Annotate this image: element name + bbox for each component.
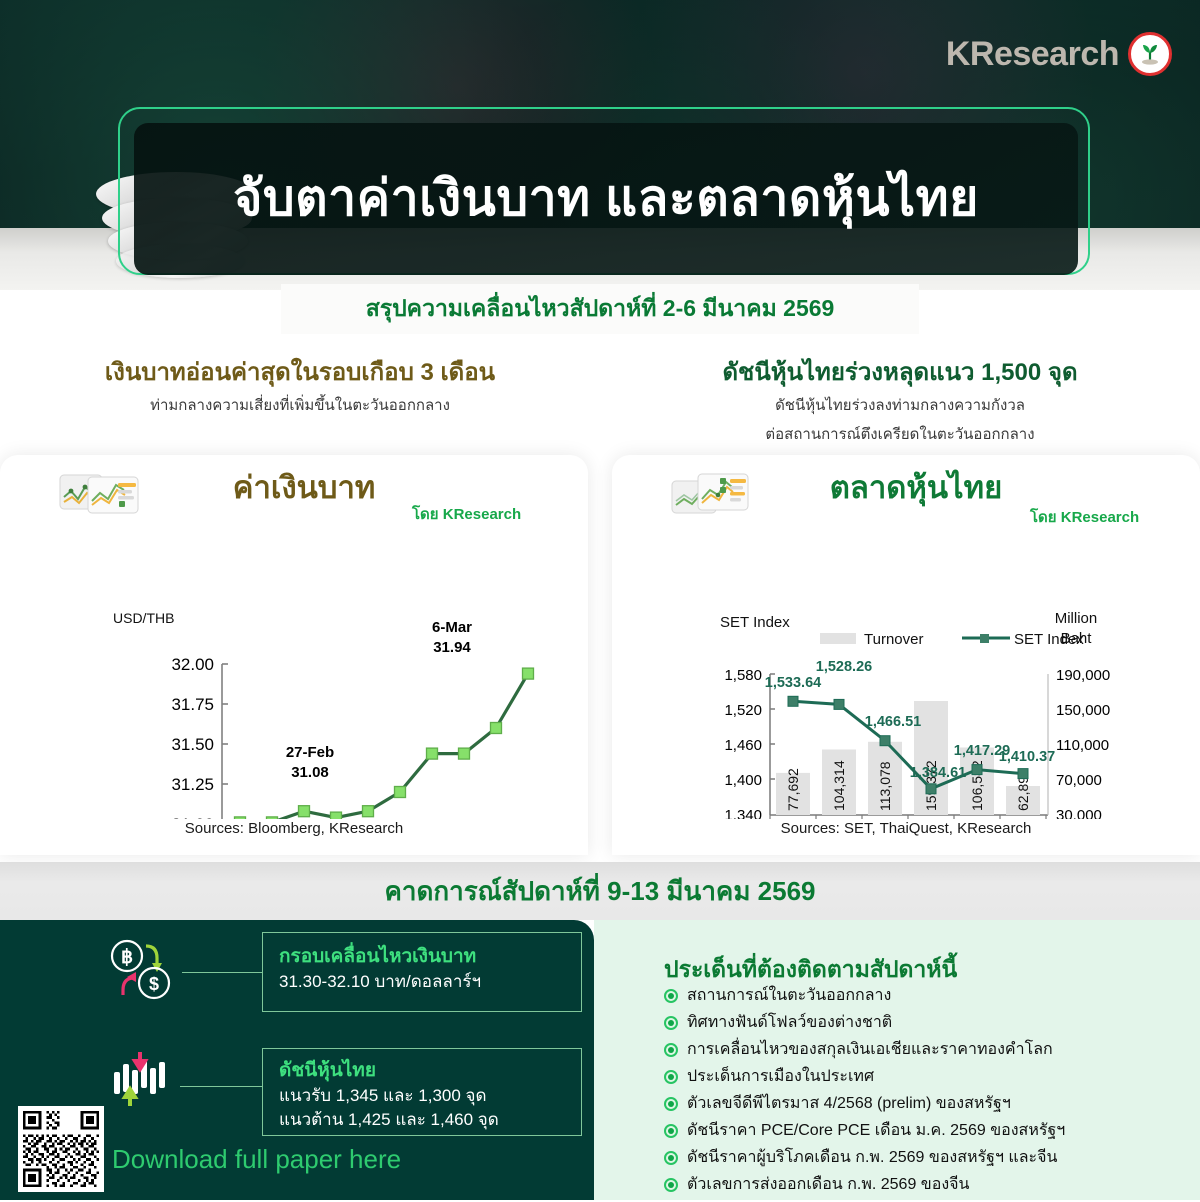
bottom-section: ฿ $ กรอบเคลื่อนไหวเงินบาท 31.30-32.10 บา… xyxy=(0,920,1200,1200)
svg-text:1,460: 1,460 xyxy=(724,737,762,754)
page-title: จับตาค่าเงินบาท และตลาดหุ้นไทย xyxy=(233,170,979,228)
watchlist-item-label: สถานการณ์ในตะวันออกกลาง xyxy=(687,986,891,1006)
note-set-levels-title: ดัชนีหุ้นไทย xyxy=(279,1059,565,1084)
hero-banner: KResearch จับตาค่าเงินบาท และตลาดหุ้นไทย xyxy=(0,0,1200,290)
headline-baht: เงินบาทอ่อนค่าสุดในรอบเกือบ 3 เดือน ท่าม… xyxy=(0,340,600,417)
svg-text:1,533.64: 1,533.64 xyxy=(765,675,821,691)
watchlist-item-label: ตัวเลขจีดีพีไตรมาส 4/2568 (prelim) ของสห… xyxy=(687,1094,1011,1114)
svg-text:1,400: 1,400 xyxy=(724,772,762,789)
svg-text:$: $ xyxy=(149,974,159,994)
watchlist-item-label: การเคลื่อนไหวของสกุลเงินเอเชียและราคาทอง… xyxy=(687,1040,1053,1060)
seedling-icon xyxy=(1128,32,1172,76)
svg-text:1,466.51: 1,466.51 xyxy=(865,714,921,730)
svg-text:113,078: 113,078 xyxy=(877,761,893,811)
chart-cards: ค่าเงินบาท โดย KResearch USD/THB 6-Mar 3… xyxy=(0,455,1200,865)
note-1-connector xyxy=(182,972,262,973)
bullet-dot-icon xyxy=(664,1016,678,1030)
svg-text:6-Mar: 6-Mar xyxy=(432,619,472,636)
svg-text:31.50: 31.50 xyxy=(171,735,214,754)
card-set-head: ตลาดหุ้นไทย โดย KResearch xyxy=(612,455,1200,519)
watchlist-item-label: ตัวเลขการส่งออกเดือน ก.พ. 2569 ของจีน xyxy=(687,1175,969,1195)
svg-text:1,340: 1,340 xyxy=(724,807,762,819)
list-item: ดัชนีราคา PCE/Core PCE เดือน ม.ค. 2569 ข… xyxy=(664,1121,1194,1141)
card-baht-by: โดย KResearch xyxy=(412,502,521,526)
title-frame: จับตาค่าเงินบาท และตลาดหุ้นไทย xyxy=(118,107,1090,275)
card-baht-source: Sources: Bloomberg, KResearch xyxy=(0,820,588,837)
set-combo-chart: SET Index Million Baht Turnover SET Inde… xyxy=(612,519,1200,824)
svg-text:1,384.61: 1,384.61 xyxy=(910,765,966,781)
watchlist-item-label: ดัชนีราคาผู้บริโภคเดือน ก.พ. 2569 ของสหร… xyxy=(687,1148,1057,1168)
svg-text:27-Feb: 27-Feb xyxy=(286,744,334,761)
bullet-dot-icon xyxy=(664,1178,678,1192)
svg-text:190,000: 190,000 xyxy=(1056,667,1110,684)
title-inner: จับตาค่าเงินบาท และตลาดหุ้นไทย xyxy=(134,123,1078,275)
note-baht-range-line1: 31.30-32.10 บาท/ดอลลาร์ฯ xyxy=(279,970,565,994)
download-full-paper-link[interactable]: Download full paper here xyxy=(112,1144,401,1175)
svg-text:31.94: 31.94 xyxy=(433,639,471,656)
card-set-source: Sources: SET, ThaiQuest, KResearch xyxy=(612,820,1200,837)
svg-text:฿: ฿ xyxy=(121,947,133,968)
bullet-dot-icon xyxy=(664,989,678,1003)
list-item: ทิศทางฟันด์โฟลว์ของต่างชาติ xyxy=(664,1013,1194,1033)
baht-line-chart: USD/THB 6-Mar 31.94 27-Feb 31.08 32.00 3… xyxy=(0,519,588,824)
headline-set: ดัชนีหุ้นไทยร่วงหลุดแนว 1,500 จุด ดัชนีห… xyxy=(600,340,1200,446)
watchlist-items: สถานการณ์ในตะวันออกกลาง ทิศทางฟันด์โฟลว์… xyxy=(664,986,1194,1202)
list-item: ตัวเลขการส่งออกเดือน ก.พ. 2569 ของจีน xyxy=(664,1175,1194,1195)
bar-chart-dashboard-icon xyxy=(670,471,752,517)
svg-text:1,520: 1,520 xyxy=(724,702,762,719)
svg-text:30,000: 30,000 xyxy=(1056,807,1102,819)
bullet-dot-icon xyxy=(664,1043,678,1057)
svg-text:77,692: 77,692 xyxy=(785,768,801,811)
qr-code-icon[interactable] xyxy=(18,1106,104,1192)
subtitle-text: สรุปความเคลื่อนไหวสัปดาห์ที่ 2-6 มีนาคม … xyxy=(366,291,835,327)
note-set-levels-line1: แนวรับ 1,345 และ 1,300 จุด xyxy=(279,1084,565,1108)
bullet-dot-icon xyxy=(664,1097,678,1111)
note-set-levels-line2: แนวต้าน 1,425 และ 1,460 จุด xyxy=(279,1108,565,1132)
svg-text:150,000: 150,000 xyxy=(1056,702,1110,719)
kresearch-logo: KResearch xyxy=(946,32,1172,76)
headline-set-sub2: ต่อสถานการณ์ตึงเครียดในตะวันออกกลาง xyxy=(600,424,1200,446)
svg-text:32.00: 32.00 xyxy=(171,655,214,674)
svg-text:104,314: 104,314 xyxy=(831,760,847,811)
card-set: ตลาดหุ้นไทย โดย KResearch SET Index Mill… xyxy=(612,455,1200,855)
logo-text: KResearch xyxy=(946,35,1119,74)
svg-text:Million: Million xyxy=(1055,610,1098,627)
note-2-connector xyxy=(180,1086,262,1087)
headline-set-title: ดัชนีหุ้นไทยร่วงหลุดแนว 1,500 จุด xyxy=(600,340,1200,388)
card-baht: ค่าเงินบาท โดย KResearch USD/THB 6-Mar 3… xyxy=(0,455,588,855)
bullet-dot-icon xyxy=(664,1151,678,1165)
forecast-band: คาดการณ์สัปดาห์ที่ 9-13 มีนาคม 2569 xyxy=(0,862,1200,920)
currency-exchange-icon: ฿ $ xyxy=(108,936,182,1006)
svg-text:USD/THB: USD/THB xyxy=(113,610,174,626)
list-item: ประเด็นการเมืองในประเทศ xyxy=(664,1067,1194,1087)
list-item: ตัวเลขจีดีพีไตรมาส 4/2568 (prelim) ของสห… xyxy=(664,1094,1194,1114)
watchlist-item-label: ทิศทางฟันด์โฟลว์ของต่างชาติ xyxy=(687,1013,892,1033)
svg-text:1,528.26: 1,528.26 xyxy=(816,659,872,675)
list-item: ดัชนีราคาผู้บริโภคเดือน ก.พ. 2569 ของสหร… xyxy=(664,1148,1194,1168)
watchlist-title: ประเด็นที่ต้องติดตามสัปดาห์นี้ xyxy=(664,952,957,988)
list-item: การเคลื่อนไหวของสกุลเงินเอเชียและราคาทอง… xyxy=(664,1040,1194,1060)
forecast-notes-panel: ฿ $ กรอบเคลื่อนไหวเงินบาท 31.30-32.10 บา… xyxy=(0,920,594,1200)
subtitle-pill: สรุปความเคลื่อนไหวสัปดาห์ที่ 2-6 มีนาคม … xyxy=(281,284,919,334)
watchlist-panel: ประเด็นที่ต้องติดตามสัปดาห์นี้ สถานการณ์… xyxy=(594,920,1200,1200)
svg-text:SET Index: SET Index xyxy=(1014,631,1084,648)
note-baht-range-box: กรอบเคลื่อนไหวเงินบาท 31.30-32.10 บาท/ดอ… xyxy=(262,932,582,1012)
svg-text:110,000: 110,000 xyxy=(1056,737,1109,754)
svg-text:SET Index: SET Index xyxy=(720,614,790,631)
card-set-by: โดย KResearch xyxy=(1030,505,1139,529)
svg-text:31.00: 31.00 xyxy=(171,815,214,819)
headline-baht-title: เงินบาทอ่อนค่าสุดในรอบเกือบ 3 เดือน xyxy=(0,340,600,388)
watchlist-item-label: ประเด็นการเมืองในประเทศ xyxy=(687,1067,874,1087)
svg-text:31.75: 31.75 xyxy=(171,695,214,714)
svg-text:Turnover: Turnover xyxy=(864,631,923,648)
svg-text:1,580: 1,580 xyxy=(724,667,762,684)
watchlist-item-label: ดัชนีราคา PCE/Core PCE เดือน ม.ค. 2569 ข… xyxy=(687,1121,1065,1141)
list-item: สถานการณ์ในตะวันออกกลาง xyxy=(664,986,1194,1006)
note-set-levels-box: ดัชนีหุ้นไทย แนวรับ 1,345 และ 1,300 จุด … xyxy=(262,1048,582,1136)
svg-text:31.08: 31.08 xyxy=(291,764,329,781)
line-chart-dashboard-icon xyxy=(58,471,140,517)
svg-text:1,410.37: 1,410.37 xyxy=(999,749,1055,765)
headlines-row: เงินบาทอ่อนค่าสุดในรอบเกือบ 3 เดือน ท่าม… xyxy=(0,340,1200,452)
headline-baht-sub1: ท่ามกลางความเสี่ยงที่เพิ่มขึ้นในตะวันออก… xyxy=(0,395,600,417)
svg-text:31.25: 31.25 xyxy=(171,775,214,794)
headline-set-sub1: ดัชนีหุ้นไทยร่วงลงท่ามกลางความกังวล xyxy=(600,395,1200,417)
forecast-title: คาดการณ์สัปดาห์ที่ 9-13 มีนาคม 2569 xyxy=(384,871,815,912)
note-baht-range-title: กรอบเคลื่อนไหวเงินบาท xyxy=(279,945,565,970)
bullet-dot-icon xyxy=(664,1070,678,1084)
svg-text:70,000: 70,000 xyxy=(1056,772,1102,789)
candlestick-chart-icon xyxy=(110,1048,180,1114)
bullet-dot-icon xyxy=(664,1124,678,1138)
card-baht-head: ค่าเงินบาท โดย KResearch xyxy=(0,455,588,519)
